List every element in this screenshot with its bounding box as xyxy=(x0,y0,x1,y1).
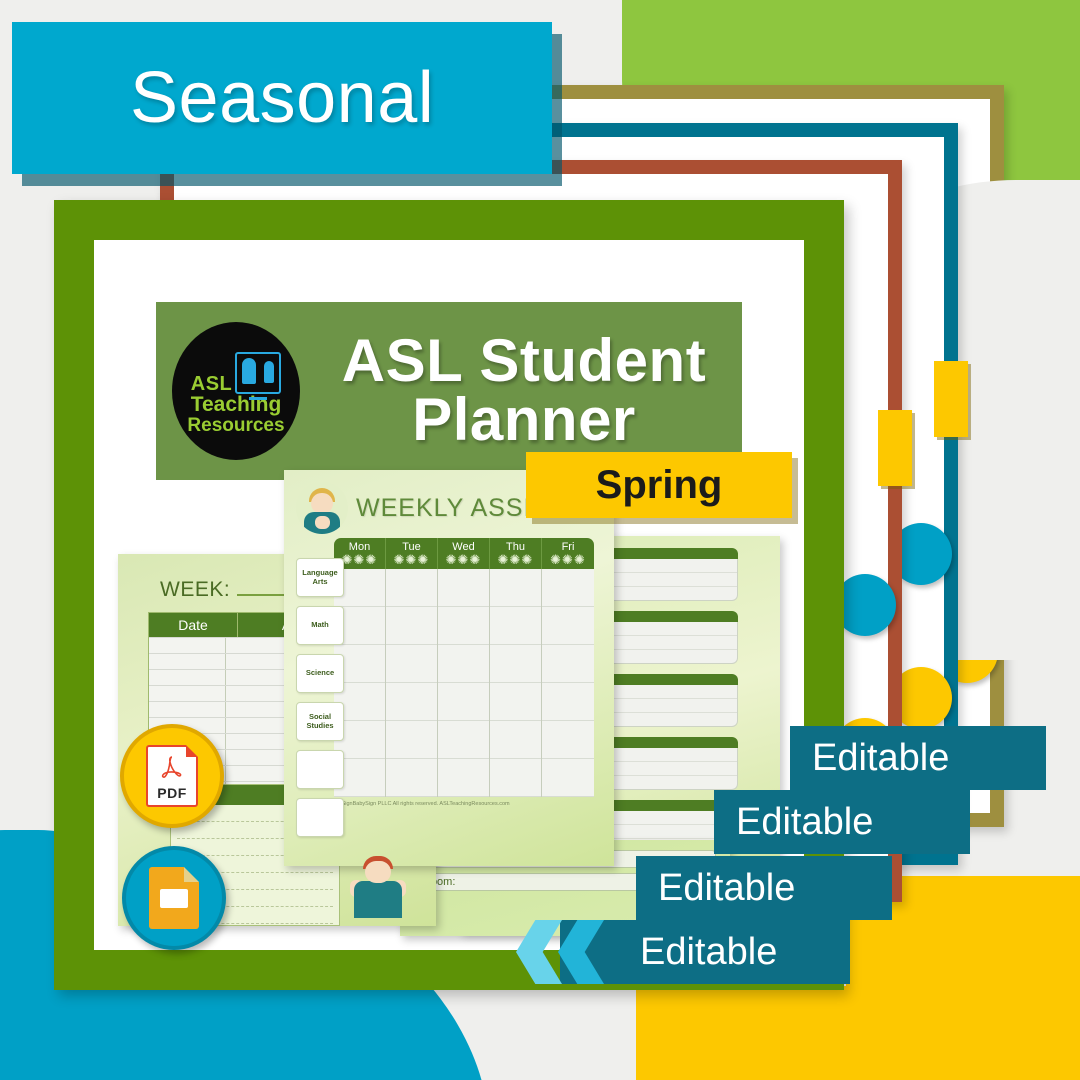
page-title-line1: ASL Student xyxy=(316,332,732,391)
weekly-grid-body[interactable] xyxy=(334,569,606,797)
subject-language-arts[interactable]: Language Arts xyxy=(296,558,344,597)
pdf-icon[interactable]: PDF xyxy=(120,724,224,828)
google-slides-icon[interactable] xyxy=(122,846,226,950)
season-tab-spring[interactable]: Spring xyxy=(526,452,792,518)
weekly-day-header: Mon ✺✺✺ Tue ✺✺✺ Wed ✺✺✺ Thu ✺✺✺ Fri ✺✺ xyxy=(334,538,606,569)
editable-label: Editable xyxy=(790,737,971,780)
adobe-swirl-icon xyxy=(161,756,183,782)
subject-social-studies[interactable]: Social Studies xyxy=(296,702,344,741)
editable-ribbon-2: Editable xyxy=(636,856,892,920)
subject-blank-2[interactable] xyxy=(296,798,344,837)
season-mini-tab xyxy=(934,361,968,437)
copyright-notice: © SignBabySign PLLC All rights reserved.… xyxy=(336,801,606,807)
grid-column xyxy=(438,569,490,797)
editable-ribbon-1: Editable xyxy=(560,920,850,984)
logo-line-resources: Resources xyxy=(187,416,284,436)
subject-science[interactable]: Science xyxy=(296,654,344,693)
poster-canvas: ASL Teaching Resources ASL Student Plann… xyxy=(0,0,1080,1080)
student-illustration xyxy=(348,856,408,918)
asl-sign-icon: ✺✺✺ xyxy=(490,553,541,567)
column-header-date: Date xyxy=(149,613,238,637)
season-tab-label: Spring xyxy=(596,463,723,508)
pdf-label: PDF xyxy=(157,785,187,801)
chevron-left-icon xyxy=(558,920,604,984)
subject-blank-1[interactable] xyxy=(296,750,344,789)
day-column-tue: Tue ✺✺✺ xyxy=(386,538,438,569)
subject-math[interactable]: Math xyxy=(296,606,344,645)
asl-sign-icon: ✺✺✺ xyxy=(386,553,437,567)
page-title: ASL Student Planner xyxy=(316,332,732,450)
logo-line-teaching: Teaching xyxy=(191,394,282,416)
editable-label: Editable xyxy=(714,801,895,844)
asl-sign-icon: ✺✺✺ xyxy=(542,553,594,567)
chevron-left-icon-light xyxy=(516,920,562,984)
seasonal-heading: Seasonal xyxy=(12,22,552,174)
day-column-thu: Thu ✺✺✺ xyxy=(490,538,542,569)
logo-line-asl: ASL xyxy=(191,374,233,394)
person-icon xyxy=(242,358,256,384)
grid-column xyxy=(386,569,438,797)
seasonal-label: Seasonal xyxy=(12,57,434,139)
grid-column xyxy=(542,569,594,797)
editable-ribbon-4: Editable xyxy=(790,726,1046,790)
asl-sign-icon: ✺✺✺ xyxy=(438,553,489,567)
editable-label: Editable xyxy=(636,867,817,910)
grid-column xyxy=(490,569,542,797)
asl-teaching-resources-logo: ASL Teaching Resources xyxy=(172,322,300,460)
subject-label-column: Language Arts Math Science Social Studie… xyxy=(296,558,344,846)
day-column-wed: Wed ✺✺✺ xyxy=(438,538,490,569)
day-column-fri: Fri ✺✺✺ xyxy=(542,538,594,569)
student-avatar xyxy=(296,482,348,534)
person-icon-2 xyxy=(264,361,274,383)
editable-ribbon-3: Editable xyxy=(714,790,970,854)
week-label: WEEK: xyxy=(160,578,230,601)
page-title-line2: Planner xyxy=(316,391,732,450)
season-mini-tab xyxy=(878,410,912,486)
monitor-icon xyxy=(235,352,281,394)
